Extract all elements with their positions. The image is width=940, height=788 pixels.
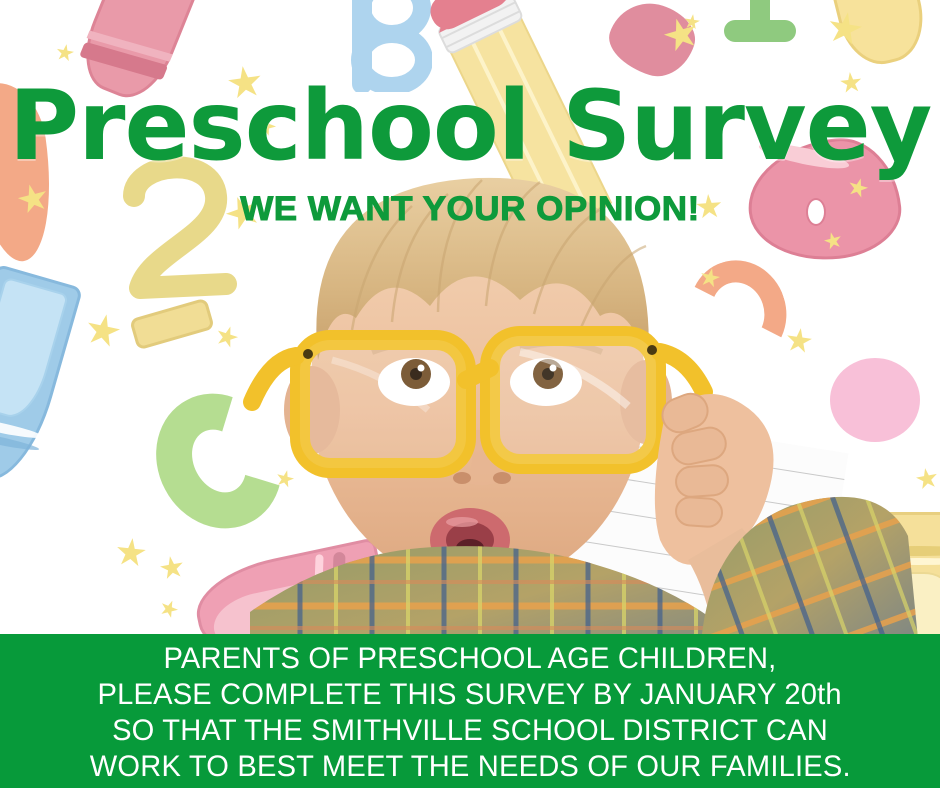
crayon-blue-icon [0, 264, 83, 491]
crayon-stub-yellow-icon [129, 298, 215, 351]
star-icon [115, 537, 148, 570]
star-icon [914, 466, 939, 491]
banner-line-4: WORK TO BEST MEET THE NEEDS OF OUR FAMIL… [90, 749, 851, 785]
star-icon [83, 311, 123, 351]
star-icon [784, 326, 813, 355]
banner-line-1: PARENTS OF PRESCHOOL AGE CHILDREN, [164, 641, 777, 677]
banner-line-3: SO THAT THE SMITHVILLE SCHOOL DISTRICT C… [112, 713, 828, 749]
star-icon [683, 13, 701, 31]
star-icon [875, 605, 900, 630]
star-icon [465, 0, 501, 29]
star-icon [396, 556, 420, 580]
letter-c-green-shape [133, 371, 306, 550]
star-icon [55, 43, 76, 64]
banner-line-2: PLEASE COMPLETE THIS SURVEY BY JANUARY 2… [98, 677, 842, 713]
star-icon [158, 554, 186, 582]
star-icon [213, 323, 241, 351]
letter-c-orange-shape [676, 248, 799, 377]
pink-circle-shape [830, 358, 920, 442]
message-banner: PARENTS OF PRESCHOOL AGE CHILDREN, PLEAS… [0, 634, 940, 788]
star-icon [825, 9, 864, 48]
star-icon [822, 230, 844, 252]
star-icon [660, 14, 702, 56]
number-one-shape [724, 0, 796, 60]
star-icon [274, 468, 296, 490]
poster-canvas: Preschool Survey WE WANT YOUR OPINION! P… [0, 0, 940, 788]
lined-paper-background [537, 409, 849, 670]
star-icon [698, 266, 722, 290]
crayon-yellow-top-right-icon [823, 0, 933, 72]
page-subtitle: WE WANT YOUR OPINION! [0, 190, 940, 229]
page-title: Preschool Survey [0, 78, 940, 174]
star-icon [157, 597, 180, 620]
